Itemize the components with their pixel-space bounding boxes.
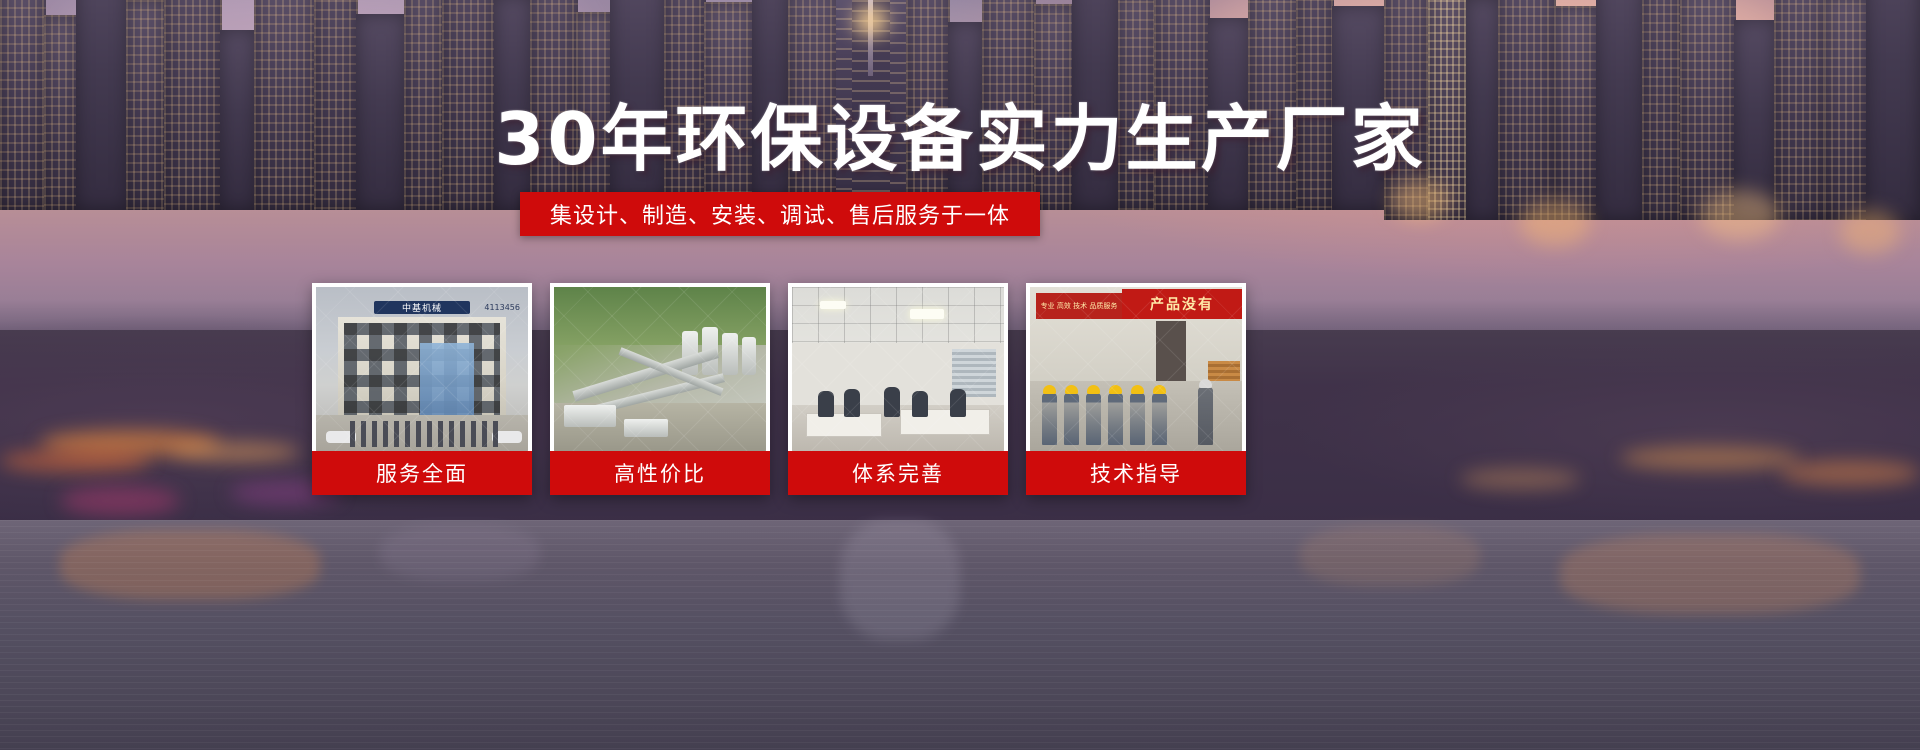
river-water [0, 520, 1920, 750]
subtitle-text: 集设计、制造、安装、调试、售后服务于一体 [550, 198, 1010, 230]
page-title: 30年环保设备实力生产厂家 [0, 100, 1920, 178]
hero-banner: 30年环保设备实力生产厂家 集设计、制造、安装、调试、售后服务于一体 中基机械 … [0, 0, 1920, 750]
card-label-service: 服务全面 [312, 451, 532, 495]
card-label-text: 服务全面 [376, 458, 468, 488]
building-sign-text: 中基机械 [374, 301, 470, 314]
building-sign-number: 4113456 [484, 303, 520, 312]
feature-card-system[interactable]: 体系完善 [788, 283, 1008, 495]
feature-card-guidance[interactable]: 产品没有 专业 高效 技术 品质服务 技术指导 [1026, 283, 1246, 495]
card-label-value: 高性价比 [550, 451, 770, 495]
card-label-guidance: 技术指导 [1026, 451, 1246, 495]
card-image-aerial-plant [554, 287, 766, 451]
card-label-text: 高性价比 [614, 458, 706, 488]
workshop-sign-text: 产品没有 [1122, 289, 1242, 319]
feature-card-list: 中基机械 4113456 服务全面 [312, 283, 1564, 495]
card-image-workshop: 产品没有 专业 高效 技术 品质服务 [1030, 287, 1242, 451]
card-label-system: 体系完善 [788, 451, 1008, 495]
card-image-office-interior [792, 287, 1004, 451]
workshop-banner-text: 专业 高效 技术 品质服务 [1036, 293, 1122, 319]
feature-card-value[interactable]: 高性价比 [550, 283, 770, 495]
subtitle-banner: 集设计、制造、安装、调试、售后服务于一体 [520, 192, 1040, 236]
feature-card-service[interactable]: 中基机械 4113456 服务全面 [312, 283, 532, 495]
card-label-text: 技术指导 [1090, 458, 1182, 488]
card-image-office-building: 中基机械 4113456 [316, 287, 528, 451]
card-label-text: 体系完善 [852, 458, 944, 488]
